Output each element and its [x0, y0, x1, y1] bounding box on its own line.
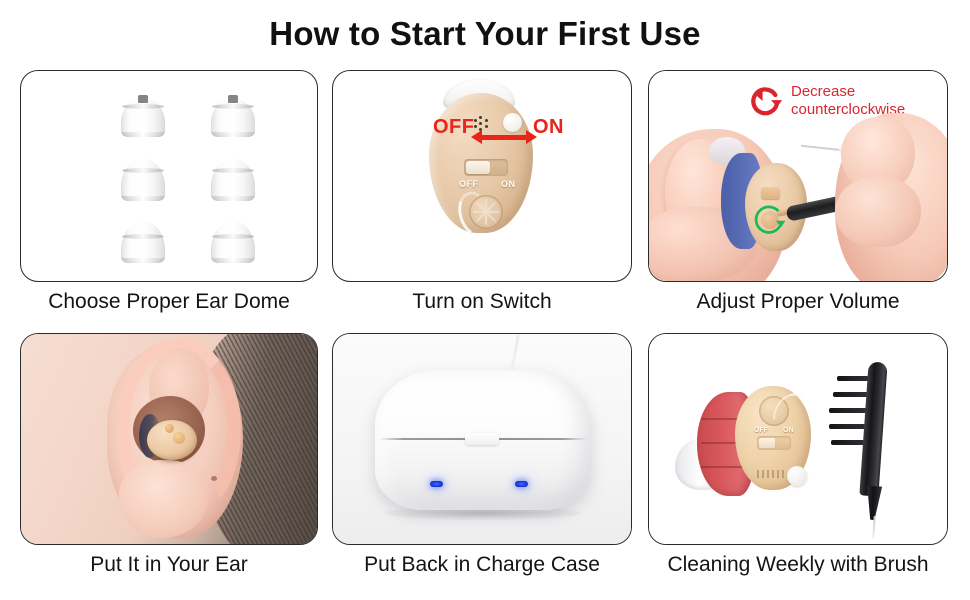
slider-knob	[466, 161, 490, 174]
hearing-aid-slider-switch	[761, 187, 780, 199]
step-1-caption: Choose Proper Ear Dome	[20, 290, 318, 314]
step-4-panel	[20, 333, 318, 545]
step-2-panel: OFF ON OFF ON	[332, 70, 632, 282]
charging-case-photo	[333, 334, 631, 544]
step-3-panel: Decrease counterclockwise	[648, 70, 948, 282]
infographic-root: How to Start Your First Use Choose Prope	[0, 0, 970, 600]
step-6-caption: Cleaning Weekly with Brush	[648, 553, 948, 577]
power-slider-switch	[464, 159, 508, 176]
step-6-panel: OFF ON	[648, 333, 948, 545]
brush-wire-pick	[872, 516, 876, 538]
ear-dome-icon	[117, 91, 169, 141]
ear-dome-icon	[207, 91, 259, 141]
on-label: ON	[533, 116, 564, 139]
step-5-caption: Put Back in Charge Case	[332, 553, 632, 577]
brush-handle	[859, 362, 887, 497]
switch-off-marking: OFF	[754, 427, 768, 434]
off-label: OFF	[433, 116, 475, 139]
ear-dome-icon	[207, 155, 259, 205]
step-2-caption: Turn on Switch	[332, 290, 632, 314]
led-indicator-left	[430, 481, 443, 487]
ear-photo	[21, 334, 317, 544]
step-4-caption: Put It in Your Ear	[20, 553, 318, 577]
decrease-note-line-1: Decrease	[791, 83, 855, 100]
charging-contacts	[757, 470, 785, 478]
brush-bristle	[837, 376, 871, 381]
page-title: How to Start Your First Use	[0, 14, 970, 54]
cleaning-illustration: OFF ON	[649, 334, 947, 544]
led-indicator-right	[515, 481, 528, 487]
counterclockwise-arrow-icon	[749, 84, 783, 118]
receiver-port	[787, 466, 807, 486]
hearing-aid-slider-switch	[757, 436, 791, 450]
green-counterclockwise-arrow-icon	[753, 202, 787, 236]
ear-dome-icon	[117, 217, 169, 267]
skin-mole	[211, 476, 217, 481]
volume-wheel-icon	[469, 195, 503, 229]
ear-dome-icon	[207, 217, 259, 267]
case-latch	[465, 433, 499, 445]
decrease-note: Decrease counterclockwise	[791, 83, 941, 119]
receiver-wire	[801, 145, 843, 151]
switch-on-marking: ON	[783, 427, 794, 434]
inserted-hearing-aid	[147, 420, 197, 460]
adjust-volume-illustration: Decrease counterclockwise	[649, 71, 947, 281]
switch-on-marking: ON	[501, 179, 516, 189]
double-arrow-icon	[471, 129, 537, 145]
switch-off-marking: OFF	[459, 179, 479, 189]
step-3-caption: Adjust Proper Volume	[648, 290, 948, 314]
ear-dome-icon	[117, 155, 169, 205]
step-5-panel	[332, 333, 632, 545]
ear-dome-grid	[99, 83, 289, 271]
right-hand	[835, 113, 948, 282]
step-1-panel	[20, 70, 318, 282]
hearing-aid-switch-illustration: OFF ON OFF ON	[333, 71, 631, 281]
